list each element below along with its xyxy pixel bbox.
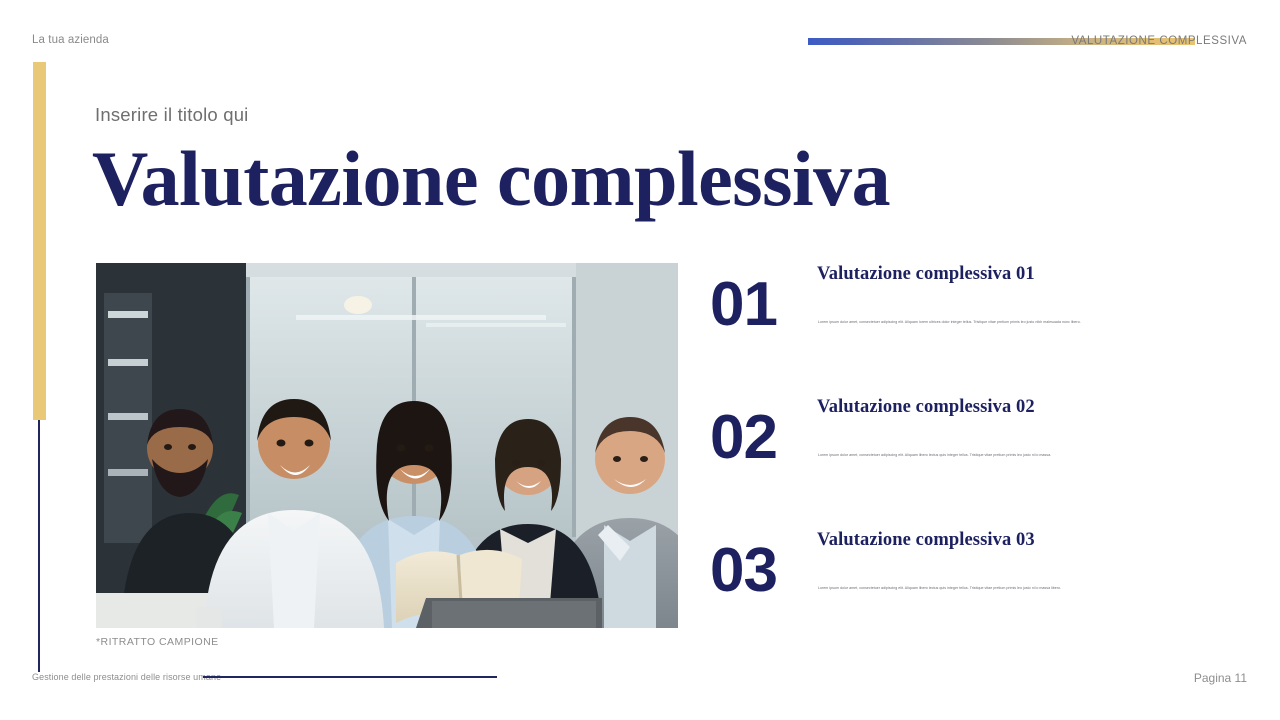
photo-caption: *RITRATTO CAMPIONE bbox=[96, 636, 219, 648]
list-item-number: 03 bbox=[710, 540, 777, 602]
gold-accent-rail bbox=[33, 62, 46, 420]
list-item-heading: Valutazione complessiva 03 bbox=[817, 530, 1035, 551]
list-item-heading: Valutazione complessiva 01 bbox=[817, 264, 1035, 285]
list-item-body: Lorem ipsum dolor amet, consectetuer adi… bbox=[818, 586, 1146, 591]
page-title: Valutazione complessiva bbox=[92, 140, 890, 218]
eyebrow-title: Inserire il titolo qui bbox=[95, 104, 249, 126]
brand-label: La tua azienda bbox=[32, 34, 109, 46]
slide-root: La tua azienda VALUTAZIONE COMPLESSIVA I… bbox=[0, 0, 1280, 720]
navy-accent-rail bbox=[38, 420, 40, 672]
footer-divider bbox=[203, 676, 497, 678]
section-tag: VALUTAZIONE COMPLESSIVA bbox=[1071, 35, 1247, 47]
list-item-number: 02 bbox=[710, 407, 777, 469]
team-photo bbox=[96, 263, 678, 628]
list-item-body: Lorem ipsum dolor amet, consectetuer adi… bbox=[818, 453, 1146, 458]
list-item-heading: Valutazione complessiva 02 bbox=[817, 397, 1035, 418]
page-number: Pagina 11 bbox=[1194, 671, 1247, 685]
list-item-number: 01 bbox=[710, 274, 777, 336]
team-photo-illustration bbox=[96, 263, 678, 628]
list-item[interactable]: 02 Valutazione complessiva 02 Lorem ipsu… bbox=[700, 395, 1260, 513]
list-item-body: Lorem ipsum dolor amet, consectetuer adi… bbox=[818, 320, 1146, 325]
list-item[interactable]: 03 Valutazione complessiva 03 Lorem ipsu… bbox=[700, 528, 1260, 646]
footer-label: Gestione delle prestazioni delle risorse… bbox=[32, 672, 221, 682]
list-item[interactable]: 01 Valutazione complessiva 01 Lorem ipsu… bbox=[700, 262, 1260, 380]
